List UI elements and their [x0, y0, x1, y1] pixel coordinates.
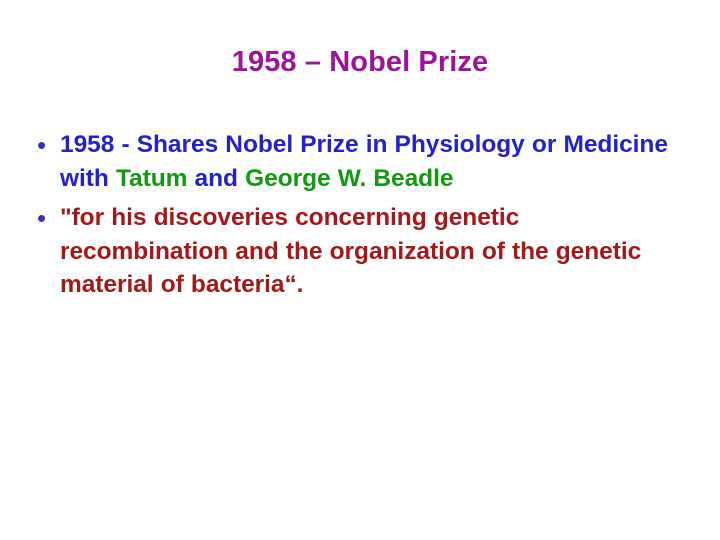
- list-item: • "for his discoveries concerning geneti…: [31, 201, 691, 302]
- bullet-segment-beadle: George W. Beadle: [245, 165, 453, 192]
- bullet-segment-citation: "for his discoveries concerning genetic …: [60, 204, 641, 298]
- bullet-dot-icon: •: [31, 128, 60, 162]
- presentation-slide: 1958 – Nobel Prize • 1958 - Shares Nobel…: [0, 0, 720, 540]
- slide-body: • 1958 - Shares Nobel Prize in Physiolog…: [31, 128, 691, 308]
- list-item: • 1958 - Shares Nobel Prize in Physiolog…: [31, 128, 691, 195]
- bullet-segment-tatum: Tatum: [116, 165, 187, 192]
- bullet-segment-and: and: [187, 165, 245, 192]
- bullet-citation-text: "for his discoveries concerning genetic …: [60, 201, 691, 302]
- bullet-dot-icon: •: [31, 201, 60, 235]
- page-title: 1958 – Nobel Prize: [0, 46, 720, 79]
- bullet-nobel-share-text: 1958 - Shares Nobel Prize in Physiology …: [60, 128, 691, 195]
